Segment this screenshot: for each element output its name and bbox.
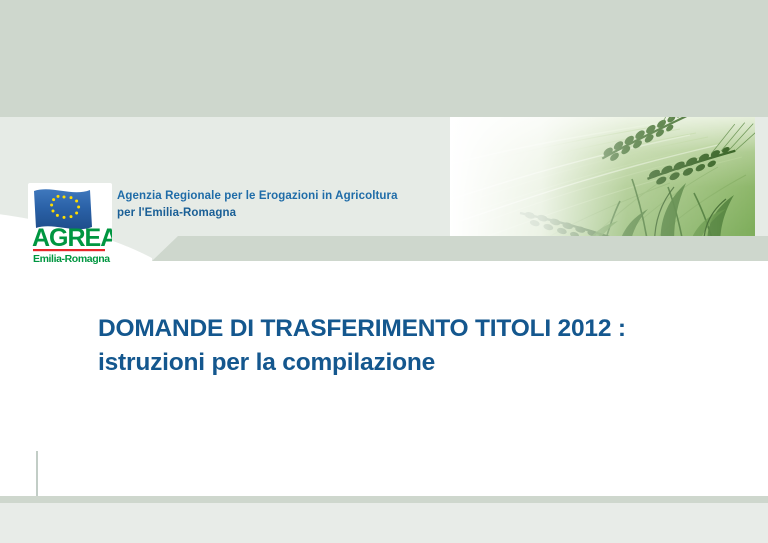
slide-title: DOMANDE DI TRASFERIMENTO TITOLI 2012 : i… (98, 312, 738, 380)
agrea-wordmark-text: AGREA (32, 224, 112, 252)
agency-name-line2: per l'Emilia-Romagna (117, 205, 398, 222)
agency-name: Agenzia Regionale per le Erogazioni in A… (117, 188, 398, 222)
agrea-red-rule (33, 249, 105, 251)
slide-title-line2: istruzioni per la compilazione (98, 346, 738, 380)
footer-band (0, 503, 768, 543)
left-vertical-divider (36, 451, 38, 497)
agrea-logo: AGREA Emilia-Romagna (28, 183, 112, 265)
top-color-band (0, 0, 768, 117)
agrea-subtitle-text: Emilia-Romagna (33, 253, 110, 265)
agency-name-line1: Agenzia Regionale per le Erogazioni in A… (117, 188, 398, 205)
slide-canvas: AGREA Emilia-Romagna Agenzia Regionale p… (0, 0, 768, 543)
footer-accent-strip (0, 496, 768, 503)
slide-title-line1: DOMANDE DI TRASFERIMENTO TITOLI 2012 : (98, 312, 738, 346)
header-accent-strip (152, 236, 768, 261)
